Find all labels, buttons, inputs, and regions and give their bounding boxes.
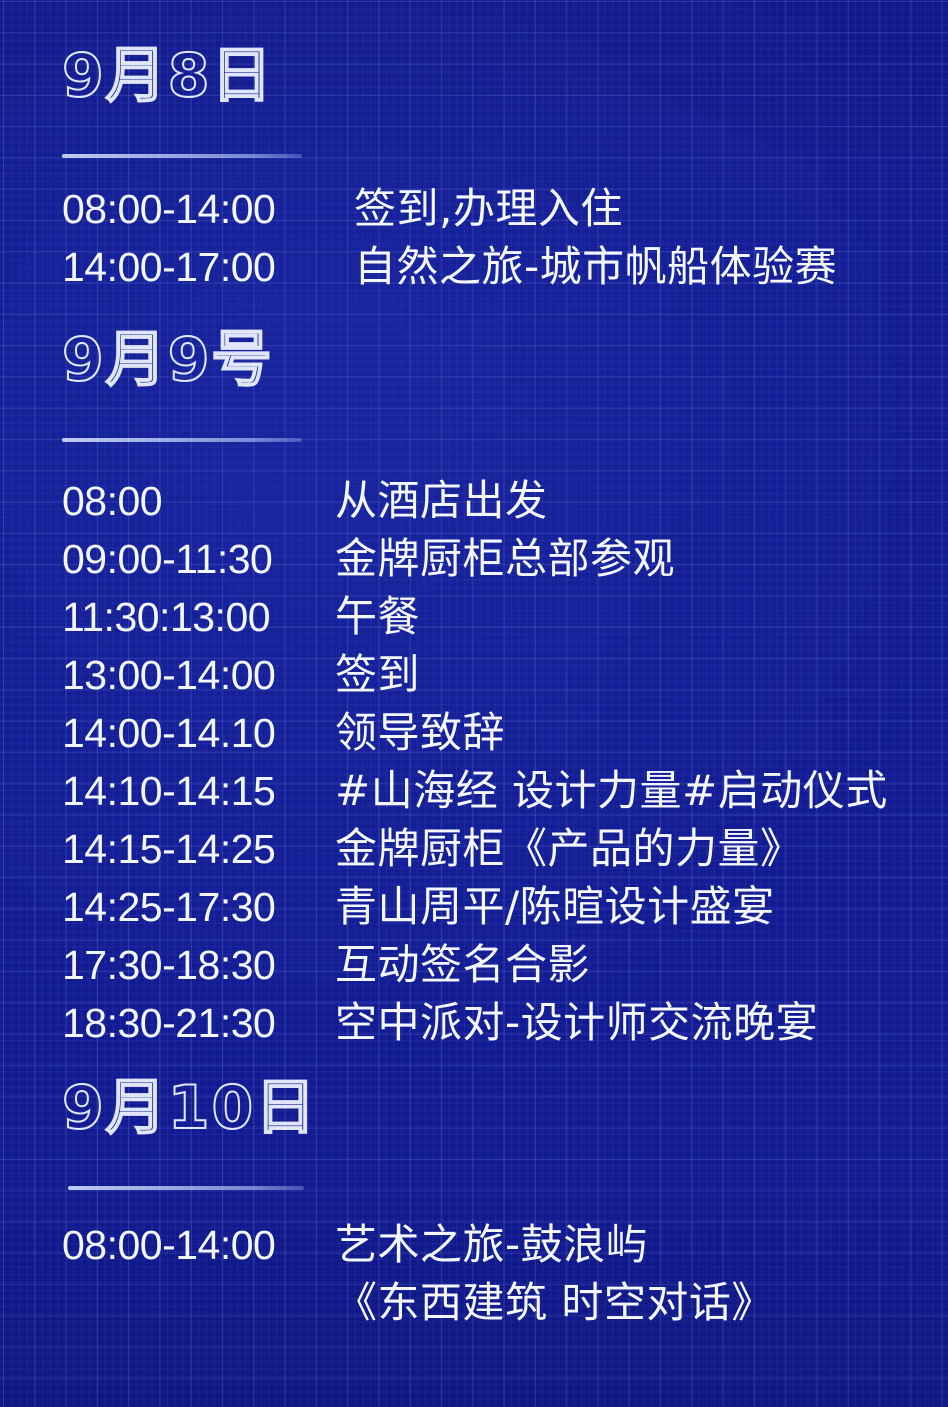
row-time: 08:00-14:00	[62, 180, 354, 238]
schedule-row: 17:30-18:30 互动签名合影	[0, 936, 948, 994]
row-time: 18:30-21:30	[62, 994, 335, 1052]
schedule-row: 14:00-14.10 领导致辞	[0, 704, 948, 762]
schedule-row: 11:30:13:00 午餐	[0, 588, 948, 646]
row-description: 签到	[335, 646, 420, 704]
row-time: 08:00-14:00	[62, 1216, 335, 1274]
schedule-row: 14:00-17:00 自然之旅-城市帆船体验赛	[0, 238, 948, 296]
schedule-row-list: 08:00-14:00 艺术之旅-鼓浪屿 《东西建筑 时空对话》	[0, 1216, 948, 1332]
row-time: 14:10-14:15	[62, 762, 335, 820]
section-divider	[68, 1186, 304, 1190]
row-time: 14:25-17:30	[62, 878, 335, 936]
row-description: 金牌厨柜总部参观	[335, 530, 675, 588]
row-description: 午餐	[335, 588, 420, 646]
schedule-row: 14:10-14:15 #山海经 设计力量#启动仪式	[0, 762, 948, 820]
poster-content: 9月8日 08:00-14:00 签到,办理入住 14:00-17:00 自然之…	[0, 0, 948, 1407]
schedule-section-sept-10: 9月10日 08:00-14:00 艺术之旅-鼓浪屿 《东西建筑 时空对话》	[0, 1078, 948, 1332]
section-divider	[62, 154, 302, 158]
row-description: 自然之旅-城市帆船体验赛	[354, 238, 837, 296]
section-divider	[62, 438, 302, 442]
section-heading: 9月8日	[62, 46, 948, 106]
row-description: 互动签名合影	[335, 936, 590, 994]
row-time: 11:30:13:00	[62, 588, 335, 646]
section-heading: 9月10日	[62, 1078, 948, 1138]
row-description: 青山周平/陈暄设计盛宴	[335, 878, 775, 936]
section-heading: 9月9号	[62, 330, 948, 390]
row-time: 14:00-14.10	[62, 704, 335, 762]
row-time: 09:00-11:30	[62, 530, 335, 588]
row-time: 14:15-14:25	[62, 820, 335, 878]
row-description: 签到,办理入住	[354, 180, 623, 238]
schedule-row: 13:00-14:00 签到	[0, 646, 948, 704]
row-description: #山海经 设计力量#启动仪式	[335, 762, 888, 820]
row-description-line-2: 《东西建筑 时空对话》	[335, 1274, 948, 1332]
row-description: 金牌厨柜《产品的力量》	[335, 820, 803, 878]
row-time: 14:00-17:00	[62, 238, 354, 296]
schedule-section-sept-8: 9月8日 08:00-14:00 签到,办理入住 14:00-17:00 自然之…	[0, 46, 948, 296]
row-description: 艺术之旅-鼓浪屿	[335, 1216, 648, 1274]
row-description: 空中派对-设计师交流晚宴	[335, 994, 818, 1052]
schedule-row-list: 08:00-14:00 签到,办理入住 14:00-17:00 自然之旅-城市帆…	[0, 180, 948, 296]
row-description: 从酒店出发	[335, 472, 548, 530]
schedule-row: 08:00-14:00 艺术之旅-鼓浪屿	[0, 1216, 948, 1274]
schedule-poster: 9月8日 08:00-14:00 签到,办理入住 14:00-17:00 自然之…	[0, 0, 948, 1407]
row-time: 17:30-18:30	[62, 936, 335, 994]
schedule-row: 14:25-17:30 青山周平/陈暄设计盛宴	[0, 878, 948, 936]
row-time: 08:00	[62, 472, 335, 530]
schedule-row: 08:00 从酒店出发	[0, 472, 948, 530]
row-description: 领导致辞	[335, 704, 505, 762]
schedule-row: 14:15-14:25 金牌厨柜《产品的力量》	[0, 820, 948, 878]
row-time: 13:00-14:00	[62, 646, 335, 704]
schedule-row-list: 08:00 从酒店出发 09:00-11:30 金牌厨柜总部参观 11:30:1…	[0, 472, 948, 1052]
schedule-row: 18:30-21:30 空中派对-设计师交流晚宴	[0, 994, 948, 1052]
schedule-row: 08:00-14:00 签到,办理入住	[0, 180, 948, 238]
schedule-row: 09:00-11:30 金牌厨柜总部参观	[0, 530, 948, 588]
schedule-section-sept-9: 9月9号 08:00 从酒店出发 09:00-11:30 金牌厨柜总部参观 11…	[0, 330, 948, 1052]
